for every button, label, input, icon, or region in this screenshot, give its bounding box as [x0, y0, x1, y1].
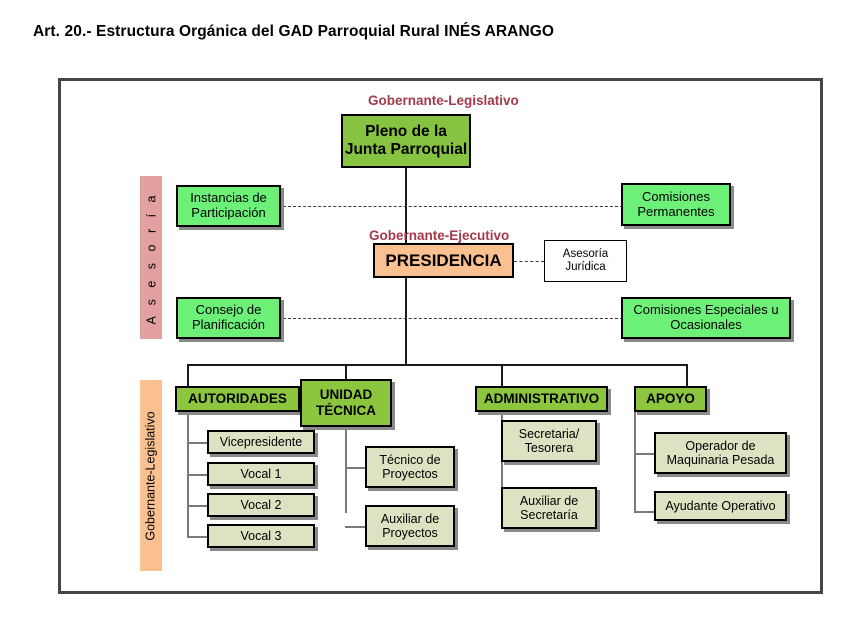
- node-auxiliar-secretaria-label: Auxiliar de Secretaría: [503, 494, 595, 523]
- connector-presidencia-trunk: [405, 278, 407, 365]
- node-comisiones-especiales-label: Comisiones Especiales u Ocasionales: [623, 303, 789, 333]
- node-presidencia[interactable]: PRESIDENCIA: [373, 243, 514, 278]
- node-secretaria-tesorera-label: Secretaria/ Tesorera: [503, 427, 595, 456]
- node-staff-vocal-2[interactable]: Vocal 2: [207, 493, 315, 517]
- node-comisiones-permanentes-label: Comisiones Permanentes: [623, 190, 729, 220]
- node-staff-vicepresidente[interactable]: Vicepresidente: [207, 430, 315, 454]
- node-unidad-tecnica-label: UNIDAD TÉCNICA: [302, 387, 390, 418]
- connector-rung-auxiliar-proyectos: [345, 526, 365, 528]
- node-comisiones-especiales[interactable]: Comisiones Especiales u Ocasionales: [621, 297, 791, 339]
- connector-drop-autoridades: [187, 364, 189, 386]
- connector-rung-tecnico-proyectos: [345, 467, 365, 469]
- node-instancias-label: Instancias de Participación: [178, 191, 279, 221]
- node-department-administrativo[interactable]: ADMINISTRATIVO: [475, 386, 608, 412]
- node-pleno-label: Pleno de la Junta Parroquial: [343, 123, 469, 159]
- node-ayudante-operativo-label: Ayudante Operativo: [665, 499, 775, 513]
- node-presidencia-label: PRESIDENCIA: [385, 251, 501, 271]
- node-apoyo-label: APOYO: [646, 391, 695, 407]
- node-consejo-planificacion[interactable]: Consejo de Planificación: [176, 297, 281, 339]
- connector-drop-apoyo: [686, 364, 688, 386]
- connector-spine-unidad-tecnica: [345, 427, 347, 513]
- node-vocal-3-label: Vocal 3: [240, 529, 281, 543]
- node-staff-ayudante-operativo[interactable]: Ayudante Operativo: [654, 491, 787, 521]
- connector-rung-vocal-1: [187, 474, 207, 476]
- node-staff-operador-maquinaria[interactable]: Operador de Maquinaria Pesada: [654, 432, 787, 474]
- connector-spine-apoyo: [634, 412, 636, 512]
- connector-rung-ayudante-operativo: [634, 511, 654, 513]
- node-staff-secretaria-tesorera[interactable]: Secretaria/ Tesorera: [501, 420, 597, 462]
- connector-dashed-asesoria-top: [283, 206, 628, 207]
- node-administrativo-label: ADMINISTRATIVO: [484, 391, 599, 407]
- connector-dashed-asesoria-bottom: [283, 318, 628, 319]
- node-instancias-participacion[interactable]: Instancias de Participación: [176, 185, 281, 227]
- node-tecnico-proyectos-label: Técnico de Proyectos: [367, 453, 453, 482]
- org-chart-frame: A s e s o r í a Gobernante-Legislativo G…: [58, 78, 823, 594]
- node-staff-vocal-1[interactable]: Vocal 1: [207, 462, 315, 486]
- connector-rung-vicepresidente: [187, 442, 207, 444]
- node-asesoria-juridica-label: Asesoría Jurídica: [545, 248, 626, 274]
- node-auxiliar-proyectos-label: Auxiliar de Proyectos: [367, 512, 453, 541]
- node-vicepresidente-label: Vicepresidente: [220, 435, 302, 449]
- connector-department-bus: [187, 364, 688, 366]
- band-gobernante-legislativo: Gobernante-Legislativo: [140, 380, 162, 571]
- node-autoridades-label: AUTORIDADES: [188, 391, 287, 407]
- connector-rung-vocal-2: [187, 505, 207, 507]
- connector-rung-vocal-3: [187, 536, 207, 538]
- node-department-apoyo[interactable]: APOYO: [634, 386, 707, 412]
- connector-dashed-asesoria-juridica: [514, 261, 544, 262]
- node-department-autoridades[interactable]: AUTORIDADES: [175, 386, 300, 412]
- node-department-unidad-tecnica[interactable]: UNIDAD TÉCNICA: [300, 379, 392, 427]
- node-comisiones-permanentes[interactable]: Comisiones Permanentes: [621, 183, 731, 226]
- band-gobernante-legislativo-label: Gobernante-Legislativo: [144, 411, 158, 540]
- node-consejo-planificacion-label: Consejo de Planificación: [178, 303, 279, 333]
- node-staff-vocal-3[interactable]: Vocal 3: [207, 524, 315, 548]
- node-asesoria-juridica[interactable]: Asesoría Jurídica: [544, 240, 627, 282]
- connector-drop-administrativo: [501, 364, 503, 386]
- node-staff-auxiliar-secretaria[interactable]: Auxiliar de Secretaría: [501, 487, 597, 529]
- label-gobernante-ejecutivo: Gobernante-Ejecutivo: [369, 228, 509, 243]
- node-staff-auxiliar-proyectos[interactable]: Auxiliar de Proyectos: [365, 505, 455, 547]
- node-pleno-junta-parroquial[interactable]: Pleno de la Junta Parroquial: [341, 114, 471, 168]
- connector-rung-operador-maquinaria: [634, 453, 654, 455]
- band-asesoria: A s e s o r í a: [140, 176, 162, 339]
- label-gobernante-legislativo: Gobernante-Legislativo: [368, 93, 519, 108]
- page-title: Art. 20.- Estructura Orgánica del GAD Pa…: [33, 23, 554, 41]
- band-asesoria-label: A s e s o r í a: [144, 191, 158, 324]
- node-operador-maquinaria-label: Operador de Maquinaria Pesada: [656, 439, 785, 468]
- node-vocal-2-label: Vocal 2: [240, 498, 281, 512]
- node-staff-tecnico-proyectos[interactable]: Técnico de Proyectos: [365, 446, 455, 488]
- node-vocal-1-label: Vocal 1: [240, 467, 281, 481]
